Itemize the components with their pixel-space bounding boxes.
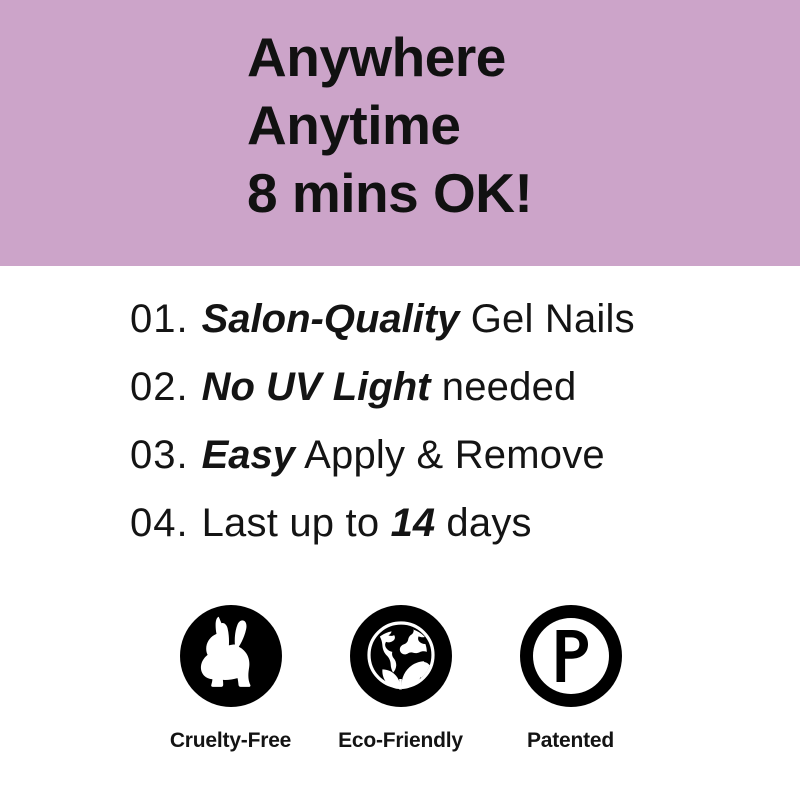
- trust-badges: Cruelty-Free Eco-Friendly: [163, 605, 638, 753]
- feature-number: 04.: [130, 500, 189, 546]
- feature-item-02: 02. No UV Light needed: [130, 364, 750, 432]
- feature-item-01: 01. Salon-Quality Gel Nails: [130, 296, 750, 364]
- badge-label: Patented: [527, 729, 614, 753]
- headline-line-2: Anytime: [247, 91, 767, 159]
- rabbit-icon: [180, 605, 282, 707]
- feature-text-after: needed: [430, 365, 576, 409]
- feature-emphasis: 14: [391, 501, 436, 545]
- badge-cruelty-free: Cruelty-Free: [163, 605, 298, 753]
- feature-label: Last up to 14 days: [202, 500, 532, 546]
- feature-number: 02.: [130, 364, 189, 410]
- patented-p-icon: [520, 605, 622, 707]
- feature-label: No UV Light needed: [202, 364, 577, 410]
- badge-label: Eco-Friendly: [338, 729, 463, 753]
- feature-text-after: days: [435, 501, 532, 545]
- badge-label: Cruelty-Free: [170, 729, 291, 753]
- product-feature-poster: Anywhere Anytime 8 mins OK! 01. Salon-Qu…: [0, 0, 800, 800]
- headline-line-3: 8 mins OK!: [247, 159, 767, 227]
- feature-emphasis: Easy: [202, 433, 295, 477]
- feature-label: Easy Apply & Remove: [202, 432, 605, 478]
- headline-line-1: Anywhere: [247, 23, 767, 91]
- feature-emphasis: Salon-Quality: [202, 297, 460, 341]
- header-band: Anywhere Anytime 8 mins OK!: [0, 0, 800, 266]
- page-title: Anywhere Anytime 8 mins OK!: [247, 23, 767, 227]
- feature-text-before: Last up to: [202, 501, 391, 545]
- feature-item-04: 04. Last up to 14 days: [130, 500, 750, 568]
- feature-number: 03.: [130, 432, 189, 478]
- feature-text-after: Apply & Remove: [295, 433, 605, 477]
- feature-label: Salon-Quality Gel Nails: [202, 296, 635, 342]
- feature-item-03: 03. Easy Apply & Remove: [130, 432, 750, 500]
- feature-emphasis: No UV Light: [202, 365, 431, 409]
- feature-list: 01. Salon-Quality Gel Nails 02. No UV Li…: [130, 296, 750, 568]
- feature-number: 01.: [130, 296, 189, 342]
- badge-eco-friendly: Eco-Friendly: [333, 605, 468, 753]
- globe-leaf-icon: [350, 605, 452, 707]
- badge-patented: Patented: [503, 605, 638, 753]
- feature-text-after: Gel Nails: [459, 297, 634, 341]
